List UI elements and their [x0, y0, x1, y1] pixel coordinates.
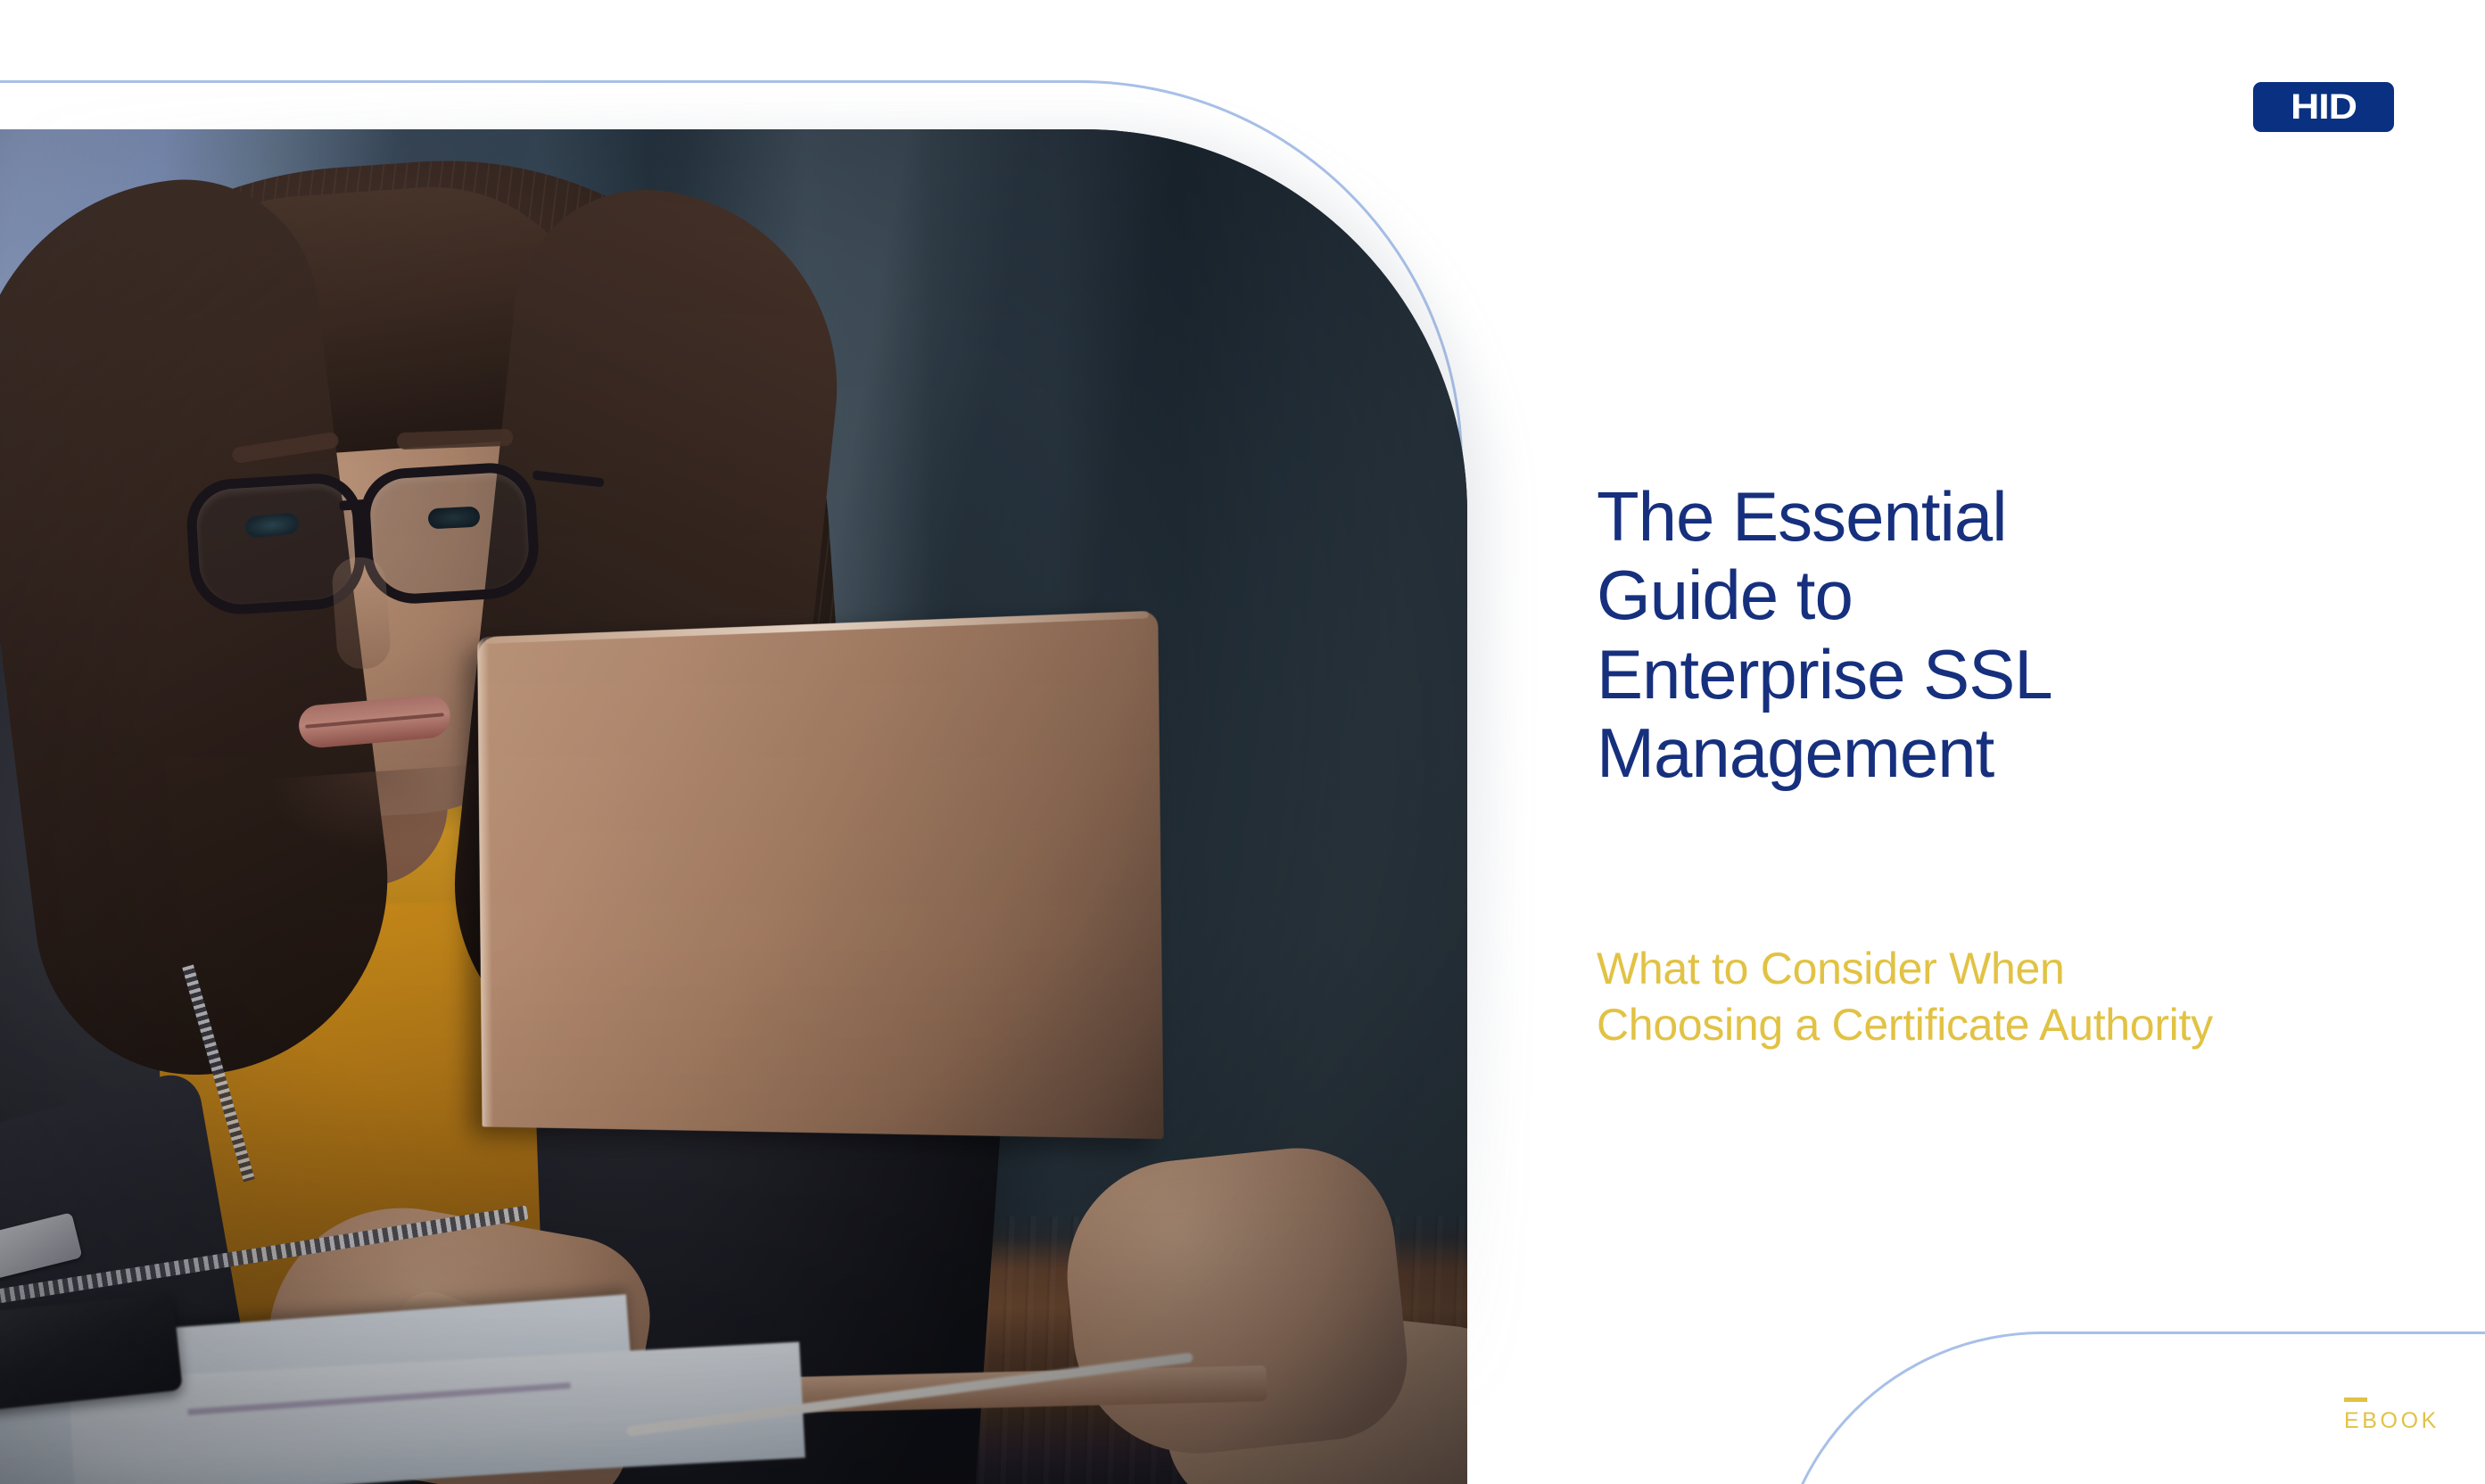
ebook-tag-dash-icon [2344, 1397, 2367, 1402]
page-title-line-2: Guide to [1597, 556, 2364, 634]
page-subtitle-line-1: What to Consider When [1597, 941, 2485, 997]
page-title-line-3: Enterprise SSL [1597, 635, 2364, 713]
cover-photo [0, 129, 1467, 1484]
page-subtitle: What to Consider When Choosing a Certifi… [1597, 941, 2485, 1053]
photo-subject-chin-shadow [265, 763, 493, 859]
photo-subject-right-hand [1056, 1139, 1415, 1466]
page-title-line-1: The Essential [1597, 477, 2364, 556]
ebook-cover-page: HID The Essential Guide to Enterprise SS… [0, 0, 2485, 1484]
page-subtitle-line-2: Choosing a Certificate Authority [1597, 997, 2485, 1053]
photo-subject-nose [331, 556, 392, 671]
cover-photo-content [0, 129, 1467, 1484]
glasses-bridge [339, 499, 368, 511]
hid-logo-text: HID [2291, 89, 2357, 125]
ebook-tag: EBOOK [2344, 1397, 2440, 1432]
photo-laptop-lid [477, 611, 1164, 1140]
page-title: The Essential Guide to Enterprise SSL Ma… [1597, 477, 2364, 792]
ebook-tag-label: EBOOK [2344, 1410, 2440, 1432]
page-title-line-4: Management [1597, 713, 2364, 792]
hid-logo: HID [2253, 82, 2394, 132]
